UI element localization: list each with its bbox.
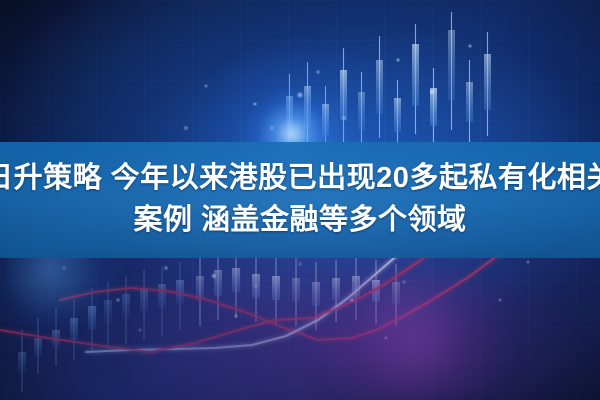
- headline-line-1: 日升策略 今年以来港股已出现20多起私有化相关: [0, 160, 600, 198]
- headline-line-2: 案例 涵盖金融等多个领域: [133, 202, 466, 240]
- headline-block: 日升策略 今年以来港股已出现20多起私有化相关 案例 涵盖金融等多个领域: [0, 142, 600, 258]
- news-thumbnail-image: 日升策略 今年以来港股已出现20多起私有化相关 案例 涵盖金融等多个领域: [0, 0, 600, 400]
